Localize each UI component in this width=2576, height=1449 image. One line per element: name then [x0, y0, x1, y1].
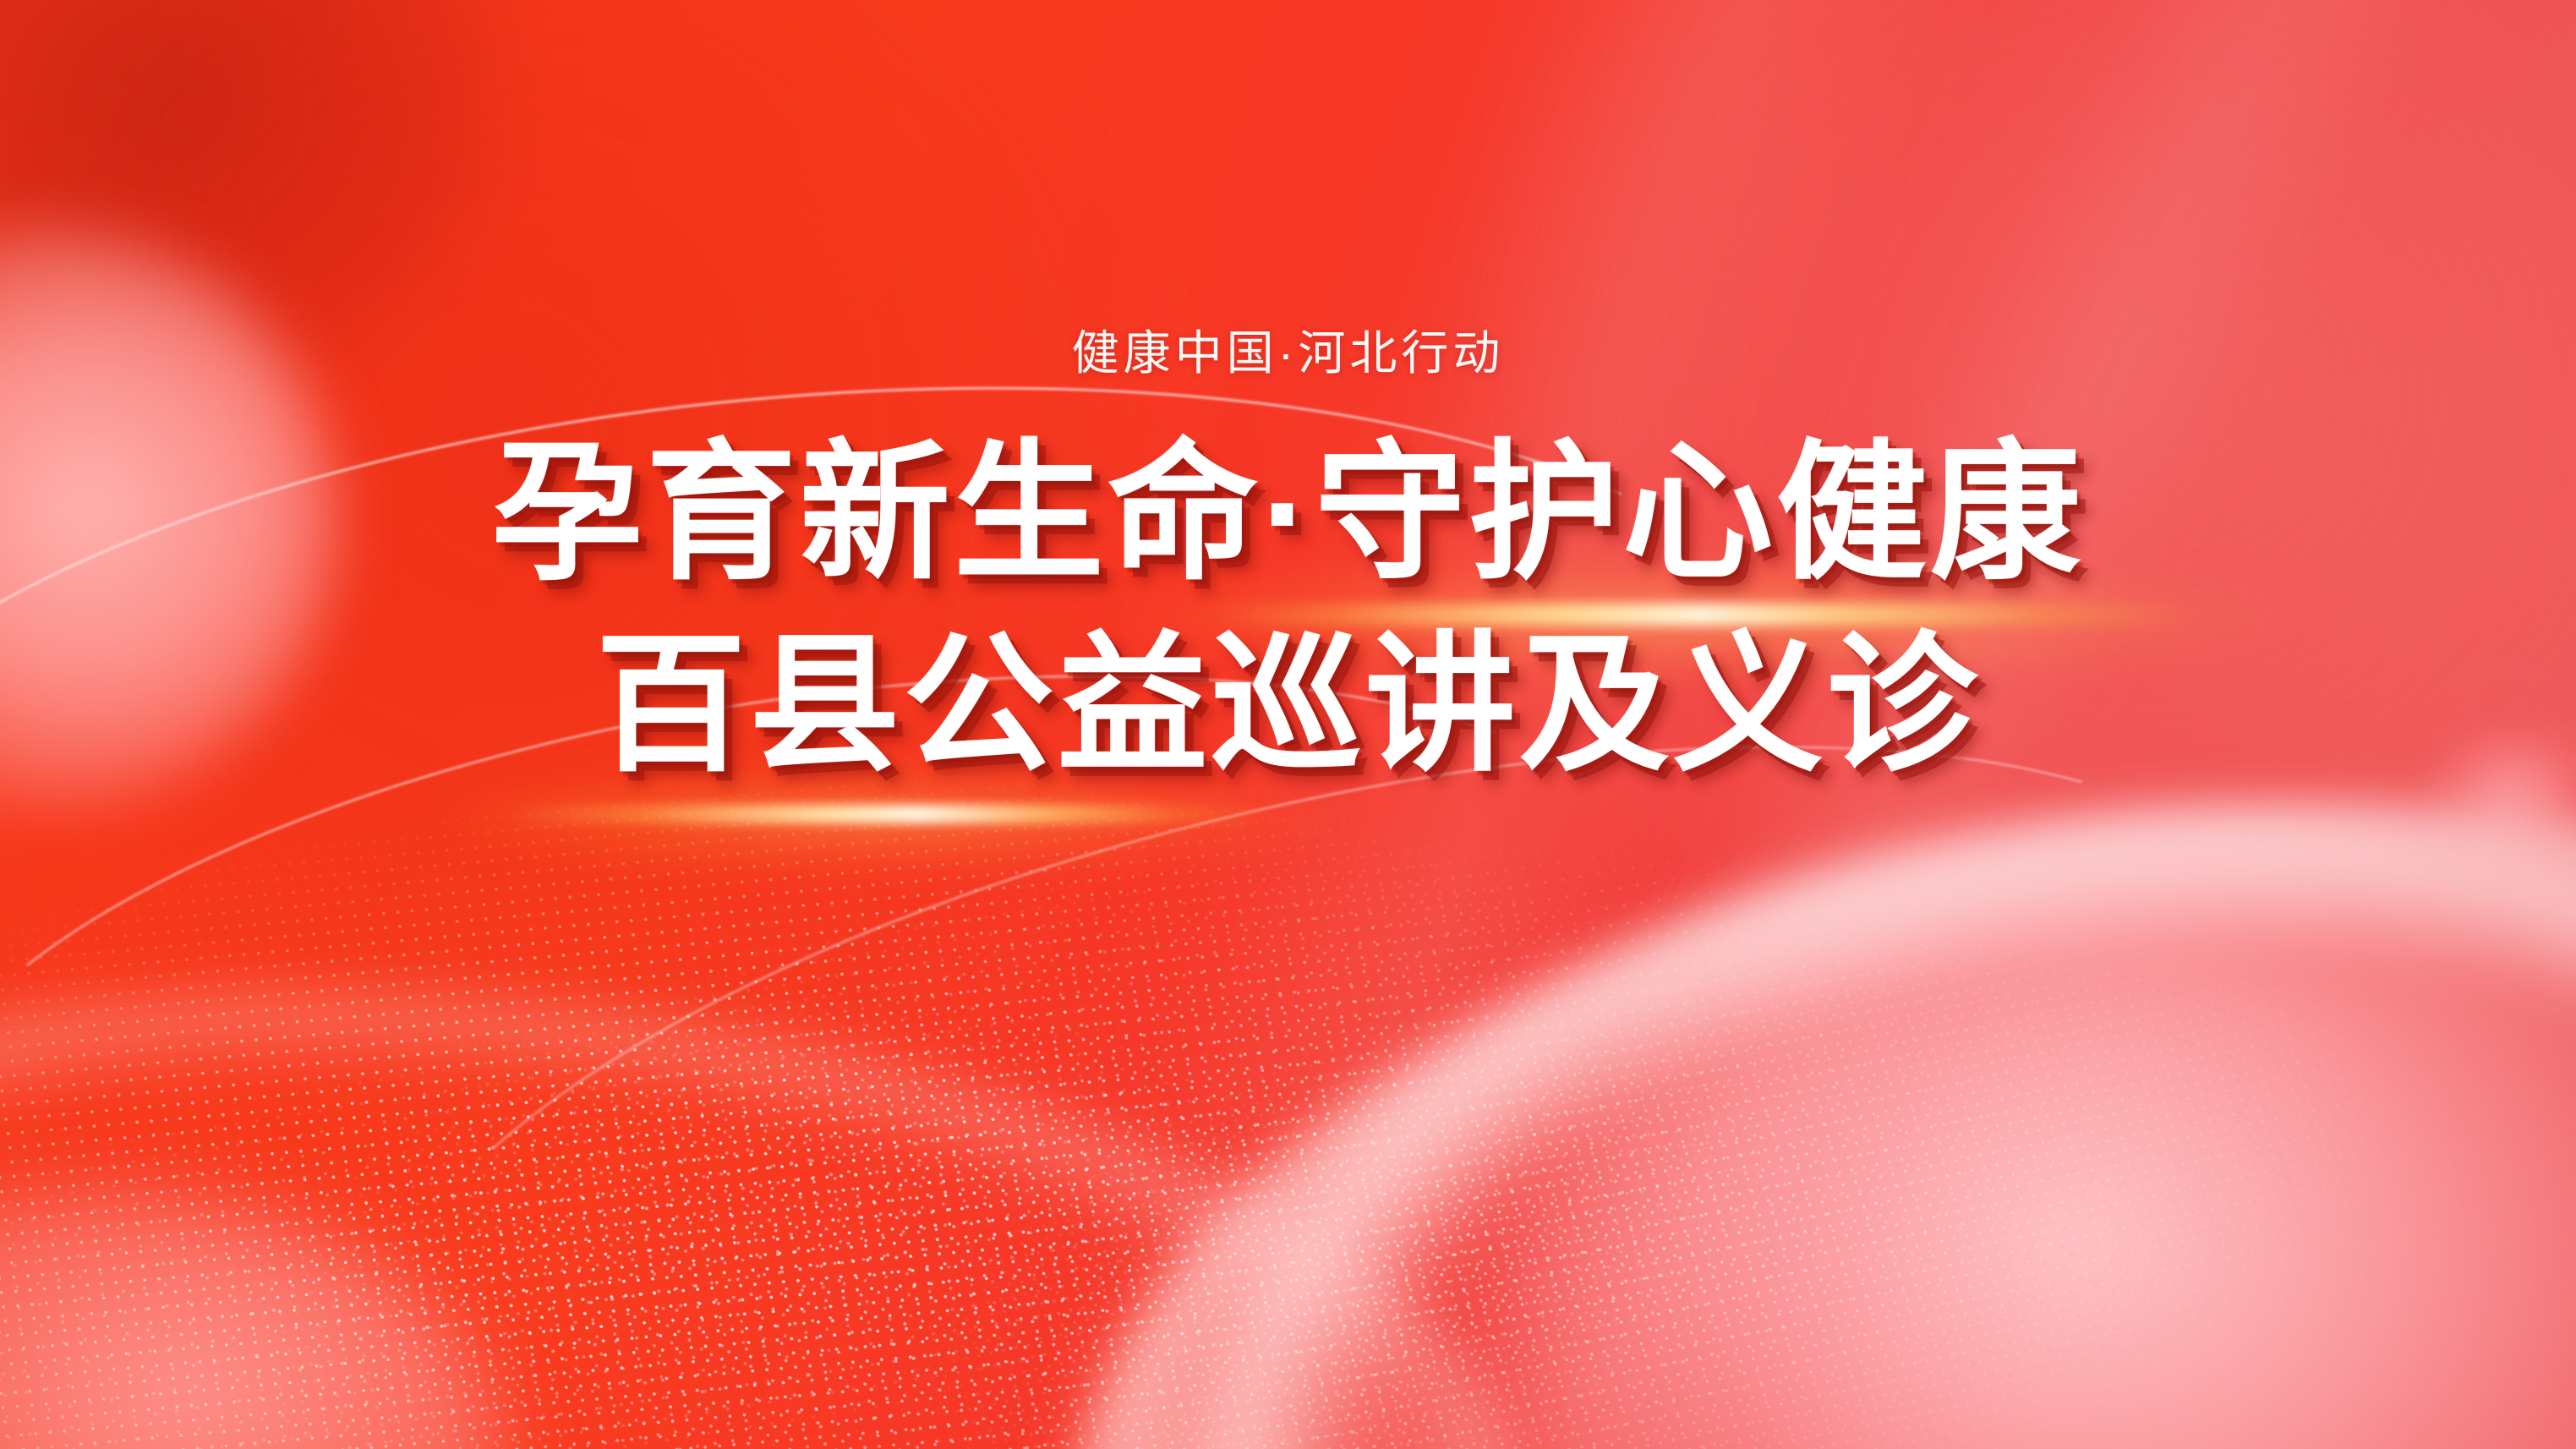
pink-glow-bottom-right [1494, 832, 2576, 1449]
poster-title-line-1: 孕育新生命·守护心健康 [0, 421, 2576, 604]
poster-text-block: 健康中国·河北行动 孕育新生命·守护心健康 百县公益巡讲及义诊 [0, 0, 2576, 796]
light-ribbon-bottom-left [0, 894, 1561, 1449]
flare-streak-lower [507, 805, 1268, 823]
light-ribbon-bottom-inner [1140, 730, 2576, 1449]
particle-wave-layer-3 [0, 763, 1693, 1449]
pink-glow-bottom-left [0, 1187, 507, 1449]
campaign-eyebrow: 健康中国·河北行动 [0, 330, 2576, 377]
poster-canvas: 健康中国·河北行动 孕育新生命·守护心健康 百县公益巡讲及义诊 [0, 0, 2576, 1449]
poster-title-line-2: 百县公益巡讲及义诊 [0, 613, 2576, 796]
